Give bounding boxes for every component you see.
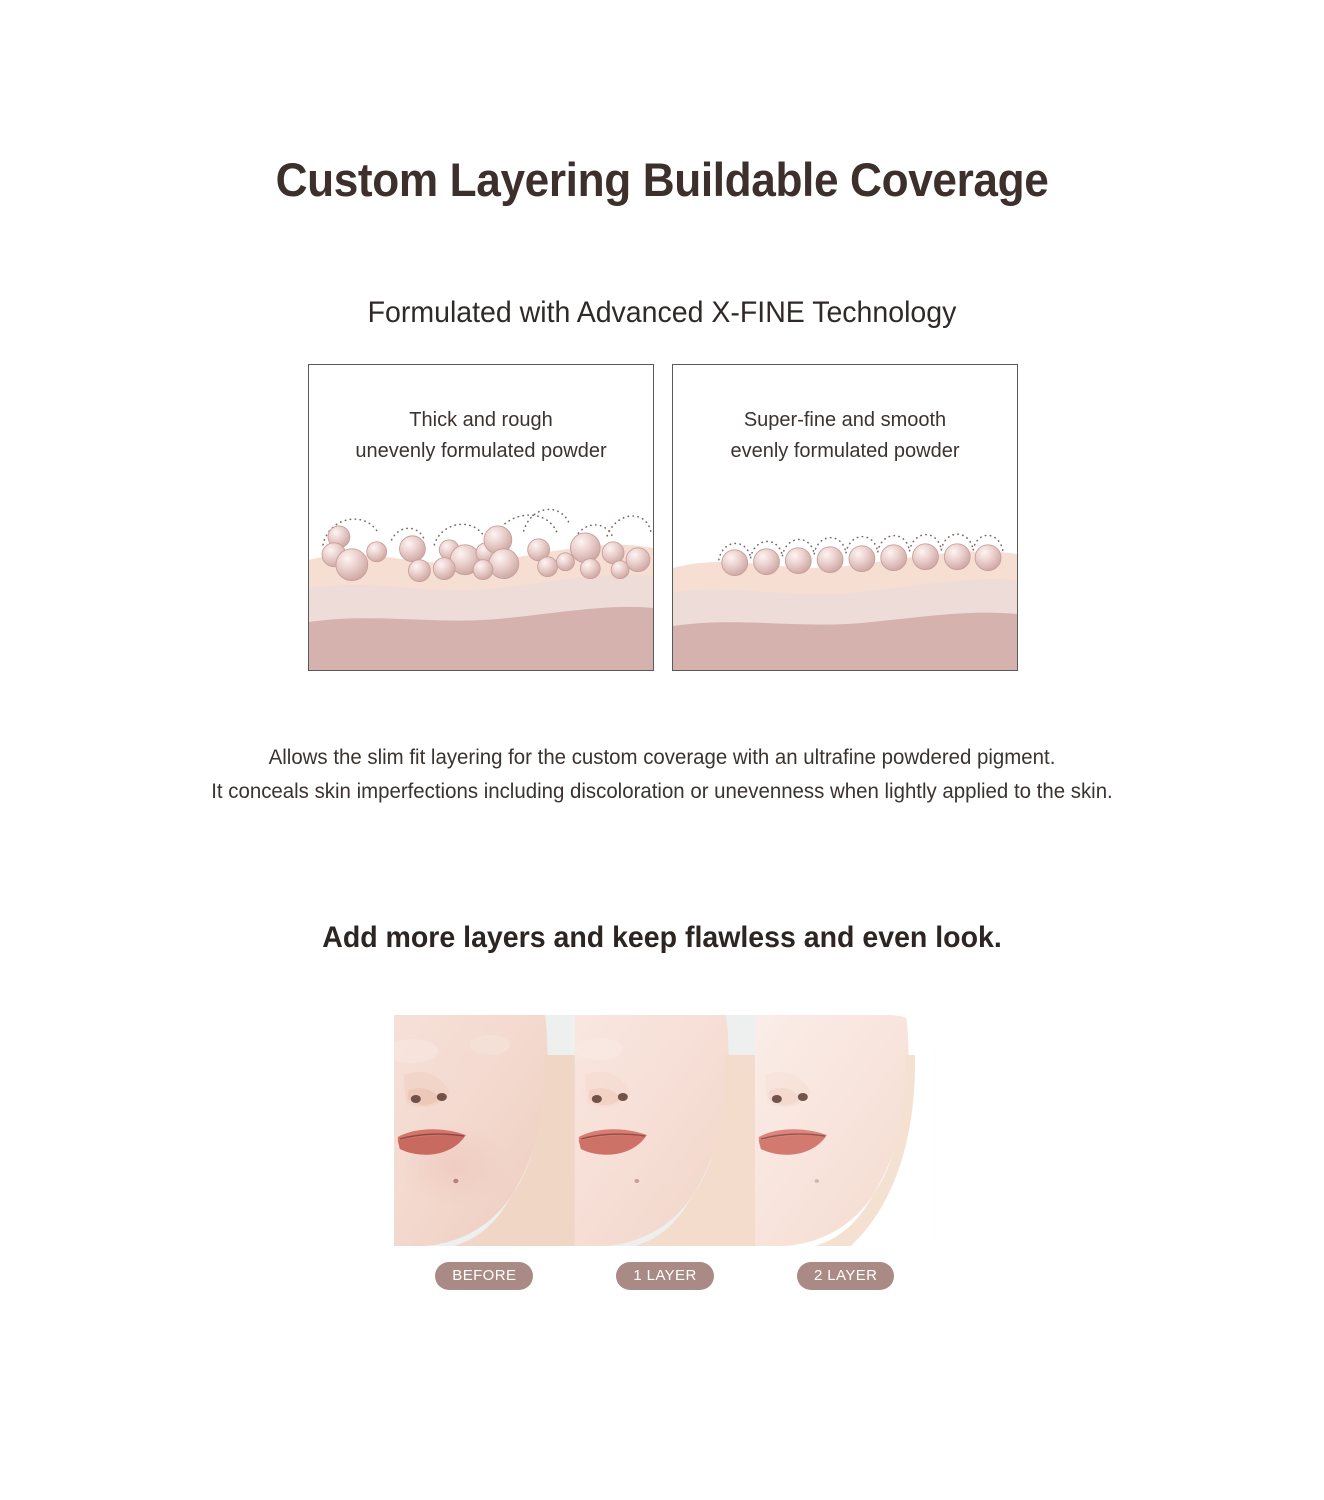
badge-slot-before: BEFORE (394, 1262, 575, 1290)
badge-slot-two-layer: 2 LAYER (755, 1262, 936, 1290)
page-subtitle: Formulated with Advanced X-FINE Technolo… (33, 296, 1291, 330)
comparison-panel-thick-rough: Thick and rough unevenly formulated powd… (308, 364, 654, 671)
comparison-panel-super-fine: Super-fine and smooth evenly formulated … (672, 364, 1018, 671)
photo-one-layer (575, 1015, 756, 1246)
photo-before (394, 1015, 575, 1246)
description-line-1: Allows the slim fit layering for the cus… (33, 740, 1291, 774)
powder-particles-irregular (309, 365, 653, 670)
face-photo-before (394, 1015, 575, 1246)
badge-slot-one-layer: 1 LAYER (575, 1262, 756, 1290)
status-badge-two-layer: 2 LAYER (797, 1262, 894, 1290)
powder-comparison-diagram: Thick and rough unevenly formulated powd… (308, 364, 1018, 671)
status-badge-before: BEFORE (435, 1262, 533, 1290)
layering-heading: Add more layers and keep flawless and ev… (33, 921, 1291, 955)
photo-two-layer (755, 1015, 936, 1246)
product-detail-page: Custom Layering Buildable Coverage Formu… (0, 0, 1324, 1500)
face-photo-two-layer (755, 1015, 936, 1246)
description-paragraph: Allows the slim fit layering for the cus… (33, 740, 1291, 808)
description-line-2: It conceals skin imperfections including… (33, 774, 1291, 808)
face-photo-one-layer (575, 1015, 756, 1246)
page-title: Custom Layering Buildable Coverage (40, 152, 1285, 207)
status-badge-one-layer: 1 LAYER (616, 1262, 713, 1290)
powder-particles-uniform (673, 365, 1017, 670)
photo-label-row: BEFORE 1 LAYER 2 LAYER (394, 1262, 936, 1290)
before-after-photo-strip (394, 1015, 936, 1246)
